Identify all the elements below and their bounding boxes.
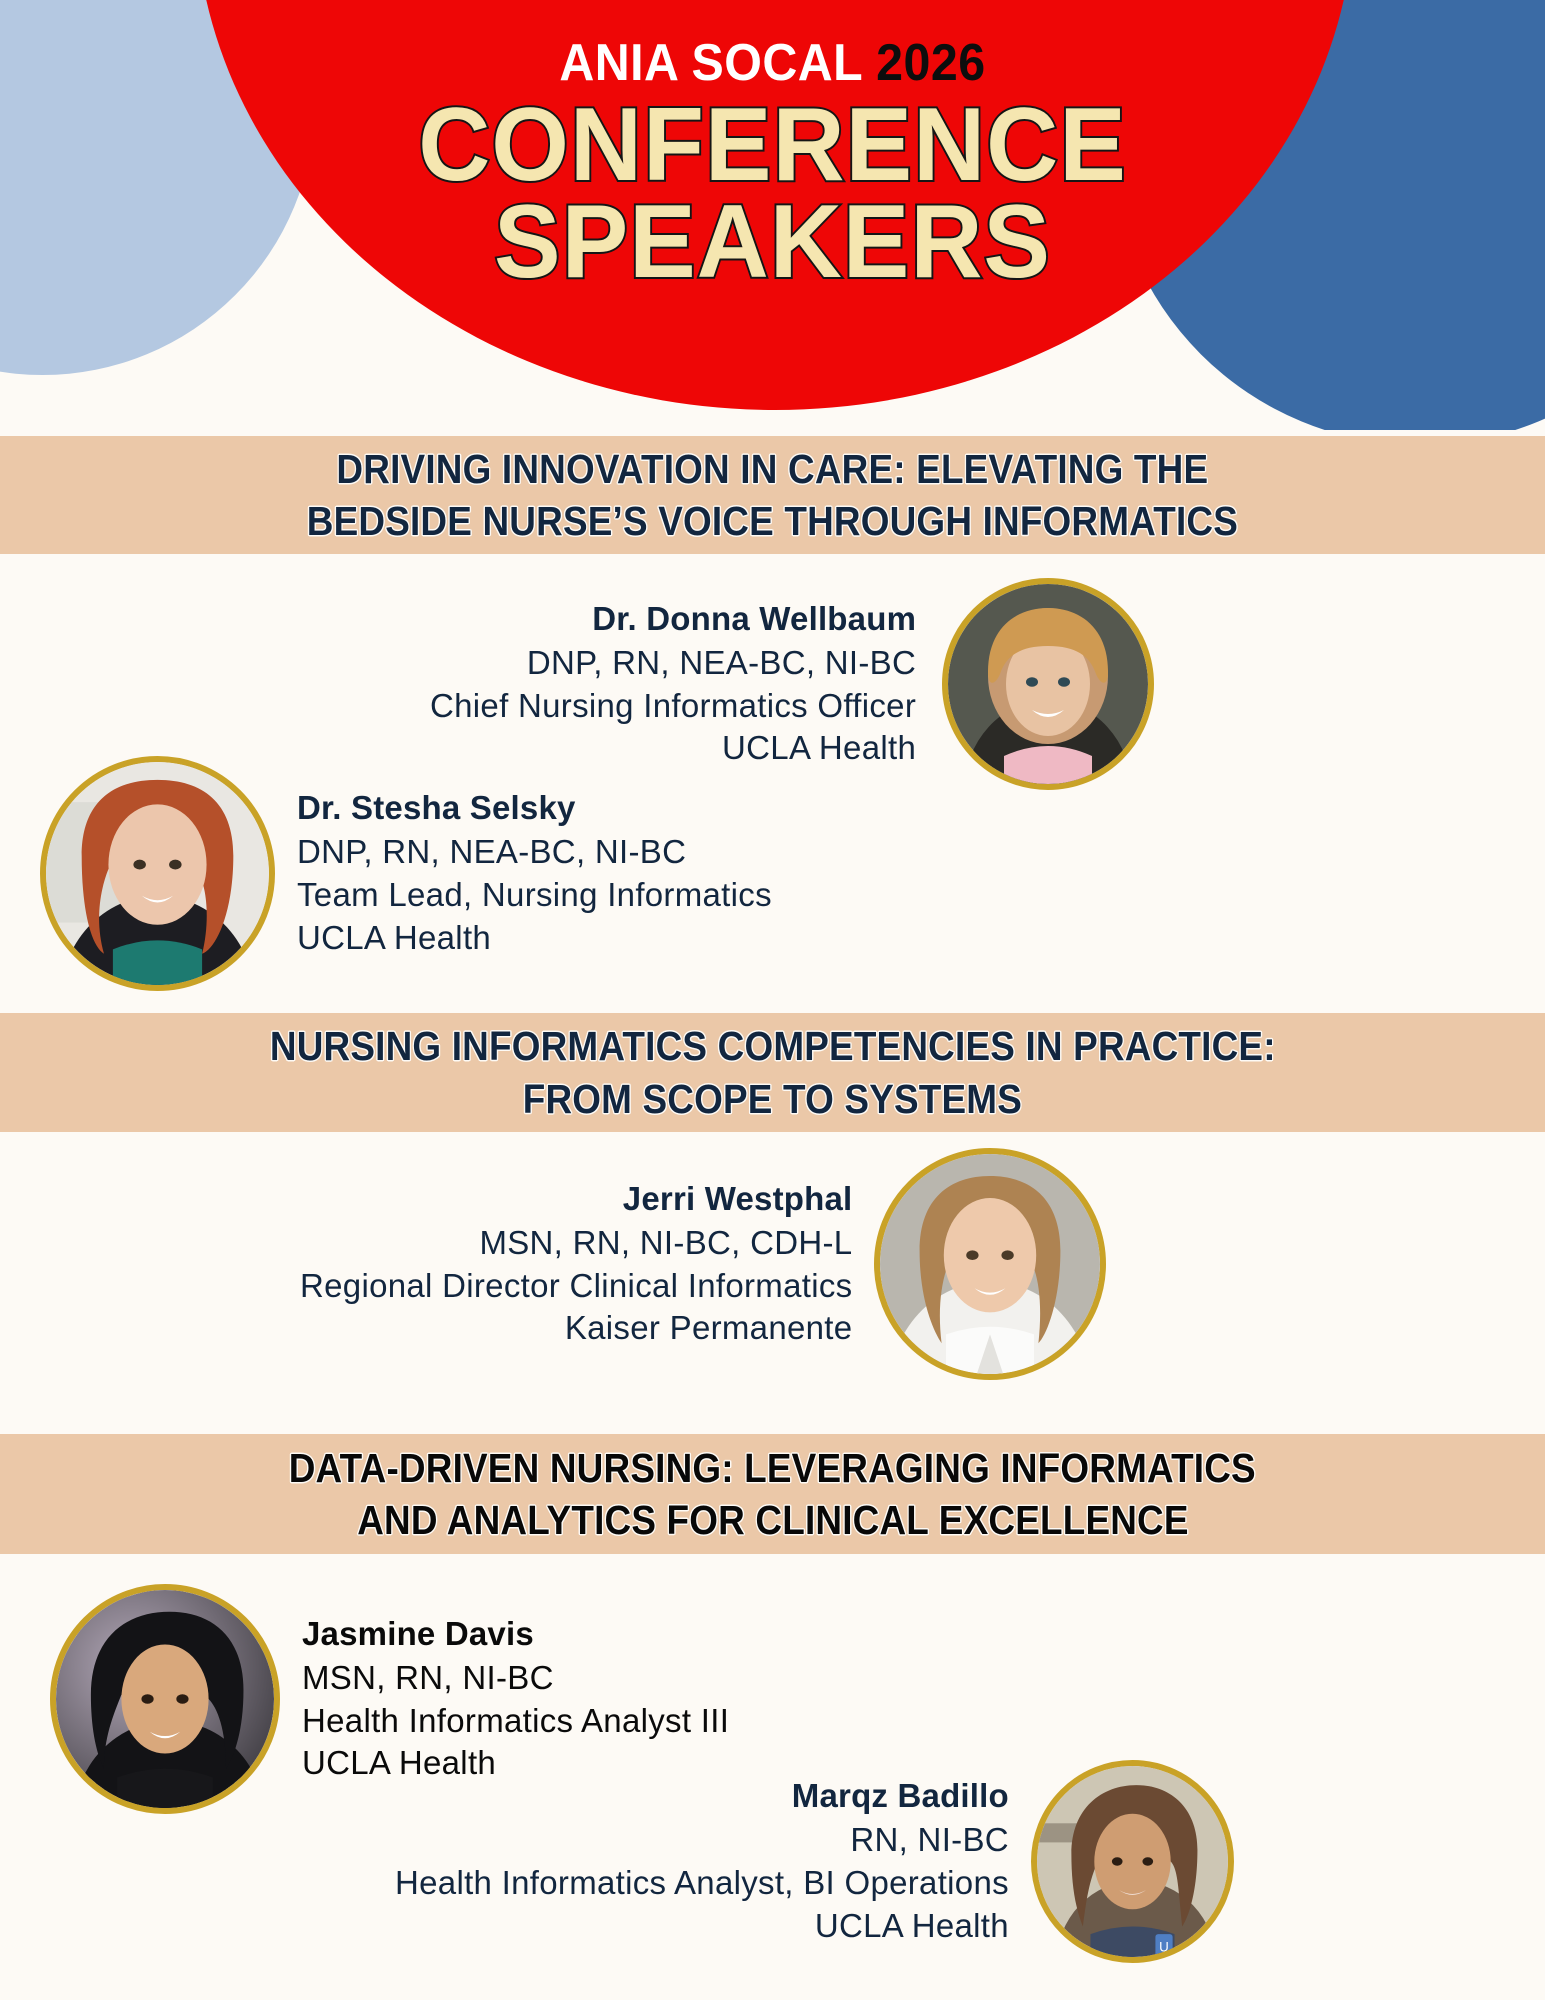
- speaker-role: Health Informatics Analyst III: [302, 1700, 729, 1743]
- avatar-image: [880, 1154, 1100, 1374]
- event-year: 2026: [876, 34, 985, 92]
- session-banner-3: DATA-DRIVEN NURSING: LEVERAGING INFORMAT…: [0, 1434, 1545, 1554]
- speaker-avatar-wellbaum: [942, 578, 1154, 790]
- event-kicker: ANIA SOCAL 2026: [54, 36, 1491, 91]
- speaker-role: Team Lead, Nursing Informatics: [297, 874, 772, 917]
- svg-text:U: U: [1159, 1939, 1169, 1954]
- event-name: ANIA SOCAL: [559, 34, 862, 92]
- page-title-line-1: CONFERENCE: [31, 97, 1514, 195]
- session-2-title-line-1: NURSING INFORMATICS COMPETENCIES IN PRAC…: [270, 1020, 1276, 1072]
- session-3-title-line-2: AND ANALYTICS FOR CLINICAL EXCELLENCE: [357, 1494, 1188, 1546]
- speaker-credentials: DNP, RN, NEA-BC, NI-BC: [297, 831, 772, 874]
- avatar-image: U: [1037, 1766, 1228, 1957]
- speaker-avatar-marqz: U: [1031, 1760, 1234, 1963]
- header-text-group: ANIA SOCAL 2026 CONFERENCE SPEAKERS: [0, 0, 1545, 292]
- speaker-organization: Kaiser Permanente: [300, 1307, 852, 1350]
- speaker-info-wellbaum: Dr. Donna Wellbaum DNP, RN, NEA-BC, NI-B…: [430, 598, 916, 771]
- session-2-title-line-2: FROM SCOPE TO SYSTEMS: [523, 1073, 1022, 1125]
- session-3-title-line-1: DATA-DRIVEN NURSING: LEVERAGING INFORMAT…: [289, 1442, 1256, 1494]
- speaker-credentials: DNP, RN, NEA-BC, NI-BC: [430, 642, 916, 685]
- speaker-credentials: MSN, RN, NI-BC, CDH-L: [300, 1222, 852, 1265]
- speaker-credentials: MSN, RN, NI-BC: [302, 1657, 729, 1700]
- speaker-info-westphal: Jerri Westphal MSN, RN, NI-BC, CDH-L Reg…: [300, 1178, 852, 1351]
- speaker-avatar-jasmine: [50, 1584, 280, 1814]
- speaker-card-selsky: Dr. Stesha Selsky DNP, RN, NEA-BC, NI-BC…: [40, 756, 772, 991]
- speaker-role: Health Informatics Analyst, BI Operation…: [395, 1862, 1009, 1905]
- avatar-image: [948, 584, 1148, 784]
- session-banner-1: DRIVING INNOVATION IN CARE: ELEVATING TH…: [0, 436, 1545, 554]
- speaker-name: Jasmine Davis: [302, 1613, 729, 1656]
- speaker-name: Dr. Donna Wellbaum: [430, 598, 916, 641]
- avatar-image: [56, 1590, 274, 1808]
- page-title-line-2: SPEAKERS: [31, 194, 1514, 292]
- conference-speakers-poster: ANIA SOCAL 2026 CONFERENCE SPEAKERS DRIV…: [0, 0, 1545, 2000]
- speaker-name: Jerri Westphal: [300, 1178, 852, 1221]
- speaker-organization: UCLA Health: [395, 1905, 1009, 1948]
- speaker-organization: UCLA Health: [297, 917, 772, 960]
- speaker-role: Chief Nursing Informatics Officer: [430, 685, 916, 728]
- speaker-card-marqz: Marqz Badillo RN, NI-BC Health Informati…: [395, 1760, 1234, 1963]
- session-1-title-line-2: BEDSIDE NURSE’S VOICE THROUGH INFORMATIC…: [307, 495, 1238, 547]
- page-title: CONFERENCE SPEAKERS: [31, 97, 1514, 293]
- speaker-role: Regional Director Clinical Informatics: [300, 1265, 852, 1308]
- avatar-image: [46, 762, 269, 985]
- speaker-name: Marqz Badillo: [395, 1775, 1009, 1818]
- speaker-avatar-selsky: [40, 756, 275, 991]
- speaker-avatar-westphal: [874, 1148, 1106, 1380]
- speaker-info-marqz: Marqz Badillo RN, NI-BC Health Informati…: [395, 1775, 1009, 1948]
- session-banner-2: NURSING INFORMATICS COMPETENCIES IN PRAC…: [0, 1013, 1545, 1132]
- speaker-info-selsky: Dr. Stesha Selsky DNP, RN, NEA-BC, NI-BC…: [297, 787, 772, 960]
- speaker-credentials: RN, NI-BC: [395, 1819, 1009, 1862]
- speaker-name: Dr. Stesha Selsky: [297, 787, 772, 830]
- speaker-card-westphal: Jerri Westphal MSN, RN, NI-BC, CDH-L Reg…: [300, 1148, 1106, 1380]
- session-1-title-line-1: DRIVING INNOVATION IN CARE: ELEVATING TH…: [337, 443, 1209, 495]
